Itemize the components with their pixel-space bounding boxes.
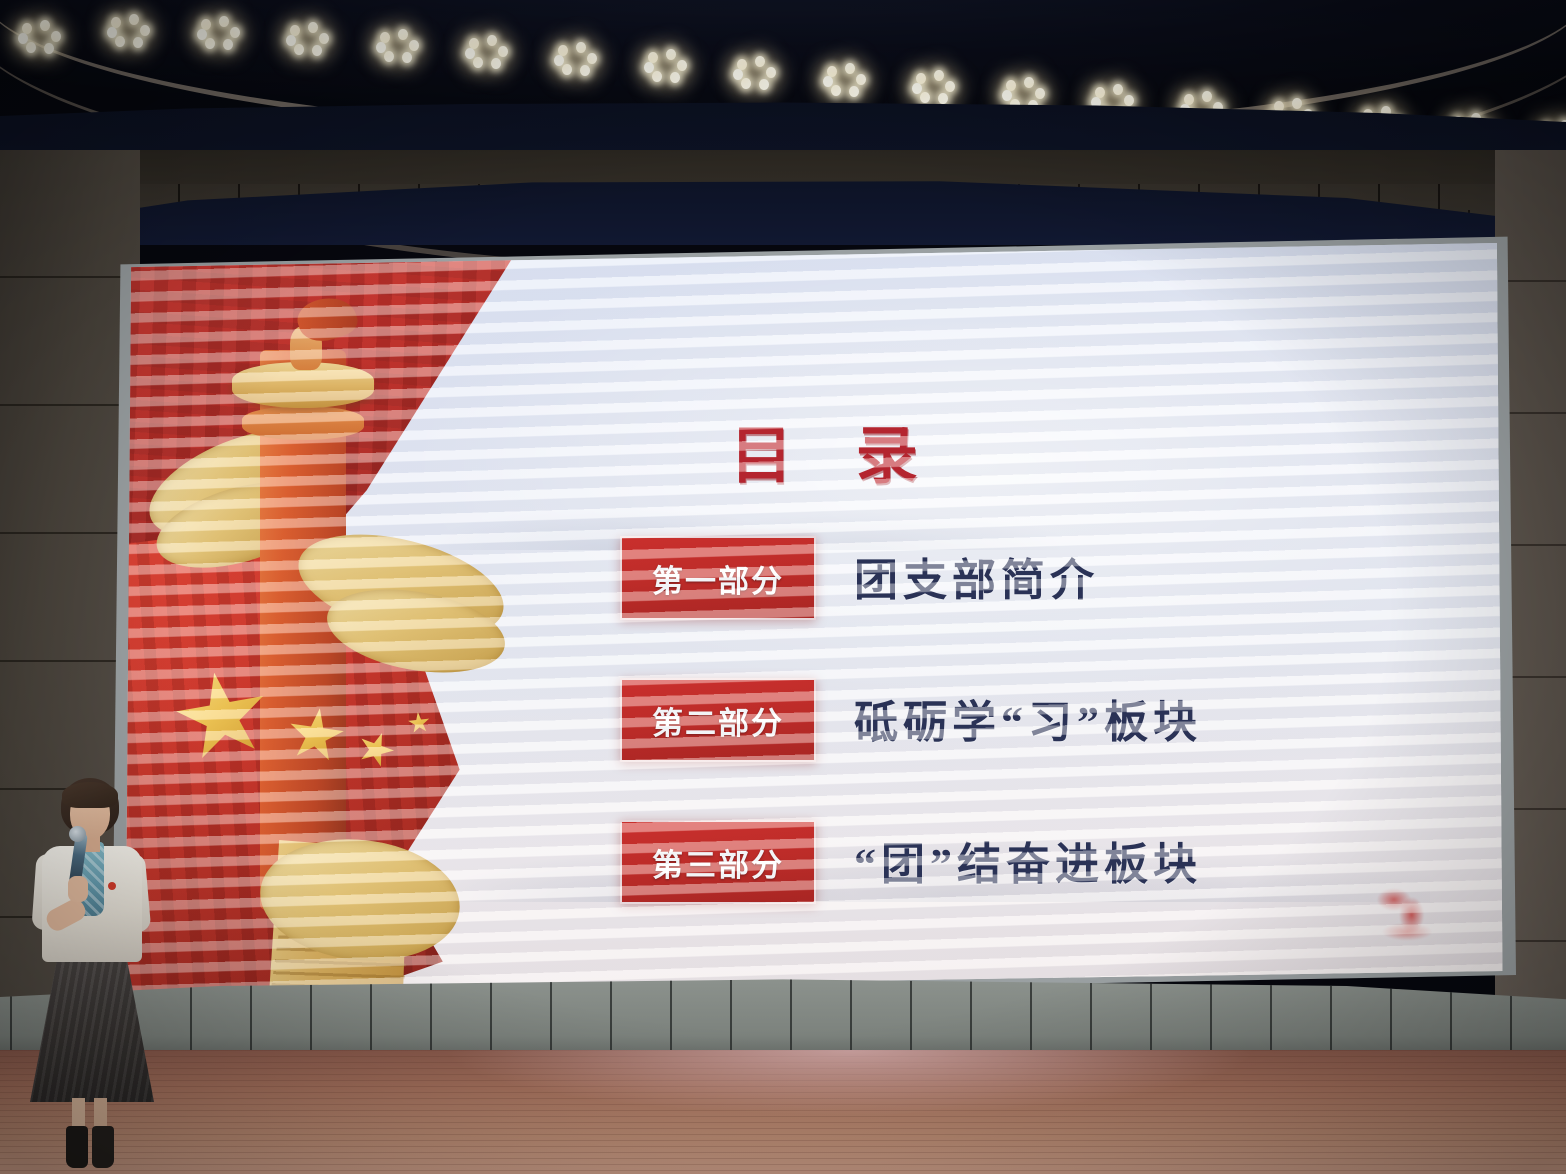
light-cluster-icon bbox=[823, 61, 869, 101]
wall-tile bbox=[0, 278, 140, 406]
light-cluster-icon bbox=[733, 54, 779, 94]
toc-label: “团”结奋进板块 bbox=[854, 828, 1202, 892]
light-cluster-icon bbox=[376, 27, 422, 67]
microphone-head-icon bbox=[69, 826, 86, 842]
floor-screen-reflection bbox=[300, 1050, 1400, 1174]
light-cluster-icon bbox=[912, 68, 958, 108]
light-cluster-icon bbox=[286, 20, 332, 60]
stage-scene: 目 录 第一部分 团支部简介 第二部分 砥砺学“习”板块 第三部分 “团”结奋进… bbox=[0, 0, 1566, 1174]
light-cluster-icon bbox=[18, 18, 64, 58]
toc-badge: 第二部分 bbox=[620, 678, 816, 762]
seal-mark bbox=[1350, 880, 1460, 950]
light-cluster-icon bbox=[554, 40, 600, 80]
light-cluster-icon bbox=[107, 12, 153, 52]
presenter-hand bbox=[68, 876, 88, 902]
light-cluster-icon bbox=[644, 47, 690, 87]
presenter-lapel-pin bbox=[108, 882, 116, 890]
led-screen[interactable]: 目 录 第一部分 团支部简介 第二部分 砥砺学“习”板块 第三部分 “团”结奋进… bbox=[120, 240, 1508, 992]
presenter bbox=[16, 778, 166, 1174]
toc-badge: 第一部分 bbox=[620, 536, 816, 620]
wall-tile bbox=[0, 150, 140, 278]
toc-label: 砥砺学“习”板块 bbox=[854, 686, 1202, 750]
slide-title: 目 录 bbox=[676, 405, 996, 495]
toc-badge: 第三部分 bbox=[620, 820, 816, 904]
toc-item[interactable]: 第三部分 “团”结奋进板块 bbox=[620, 814, 1440, 956]
toc-item[interactable]: 第二部分 砥砺学“习”板块 bbox=[620, 672, 1440, 814]
presenter-boot-left bbox=[66, 1126, 88, 1168]
huabiao-cap-lower bbox=[242, 406, 364, 440]
slide-left-decoration bbox=[120, 240, 520, 992]
toc-item[interactable]: 第一部分 团支部简介 bbox=[620, 530, 1440, 672]
light-cluster-icon bbox=[197, 14, 243, 54]
toc-badge-label: 第三部分 bbox=[652, 840, 784, 885]
light-cluster-icon bbox=[465, 33, 511, 73]
toc-badge-label: 第二部分 bbox=[652, 698, 784, 743]
toc-badge-label: 第一部分 bbox=[652, 556, 784, 601]
presenter-hair-front bbox=[62, 782, 118, 808]
table-of-contents: 第一部分 团支部简介 第二部分 砥砺学“习”板块 第三部分 “团”结奋进板块 bbox=[620, 530, 1440, 956]
presenter-boot-right bbox=[92, 1126, 114, 1168]
toc-label: 团支部简介 bbox=[854, 544, 1099, 608]
presenter-skirt-texture bbox=[30, 958, 154, 1102]
